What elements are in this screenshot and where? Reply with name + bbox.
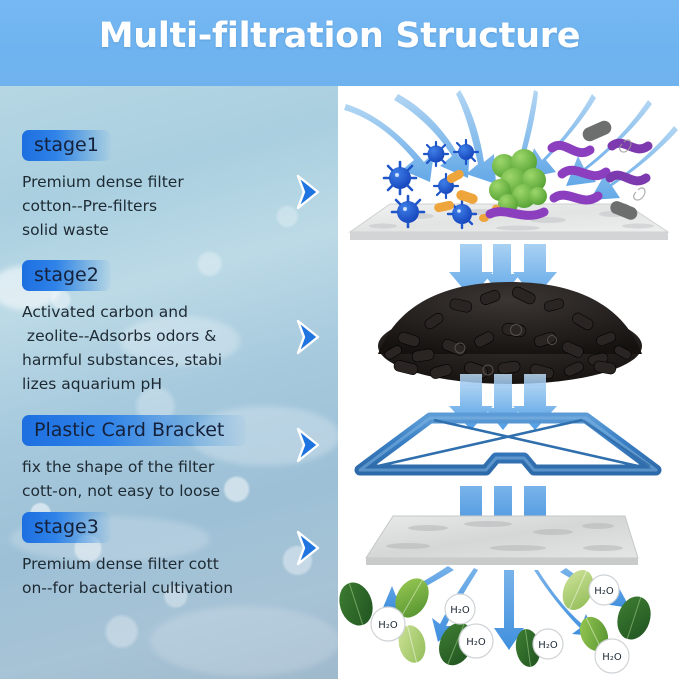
- bracket-frame-blue: [360, 418, 656, 470]
- stage-block-1: stage1 Premium dense filter cotton--Pre-…: [22, 130, 312, 242]
- text-line: lizes aquarium pH: [22, 372, 312, 396]
- infographic-page: Multi-filtration Structure stage1 Premiu…: [0, 0, 679, 679]
- h2o-bubble: H₂O: [445, 594, 475, 624]
- stage-block-3: Plastic Card Bracket fix the shape of th…: [22, 415, 312, 503]
- stage3-badge: stage3: [22, 512, 111, 543]
- h2o-bubble: H₂O: [533, 629, 563, 659]
- stage2-description: Activated carbon and zeolite--Adsorbs od…: [22, 300, 312, 396]
- header-banner: Multi-filtration Structure: [0, 0, 679, 86]
- text-line: harmful substances, stabi: [22, 348, 312, 372]
- text-line: Premium dense filter: [22, 170, 312, 194]
- activated-carbon-illustration: [338, 238, 679, 398]
- stage1-badge: stage1: [22, 130, 111, 161]
- h2o-bubble: H₂O: [595, 639, 629, 673]
- stage1-description: Premium dense filter cotton--Pre-filters…: [22, 170, 312, 242]
- chevron-right-icon: [292, 172, 326, 212]
- carbon-pellet-pile: [378, 282, 642, 388]
- svg-text:H₂O: H₂O: [450, 605, 470, 616]
- svg-text:H₂O: H₂O: [594, 586, 614, 597]
- page-title: Multi-filtration Structure: [0, 16, 679, 56]
- text-line: cotton--Pre-filters: [22, 194, 312, 218]
- text-line: on--for bacterial cultivation: [22, 576, 312, 600]
- h2o-bubble: H₂O: [459, 624, 493, 658]
- svg-text:H₂O: H₂O: [538, 640, 558, 651]
- plastic-card-bracket-description: fix the shape of the filter cott-on, not…: [22, 455, 312, 503]
- stage3-description: Premium dense filter cott on--for bacter…: [22, 552, 312, 600]
- chevron-right-icon: [292, 528, 326, 568]
- filter-cotton-bottom-illustration: H₂O H₂O H₂O H₂O H₂O H₂O: [338, 486, 679, 679]
- text-line: cott-on, not easy to loose: [22, 479, 312, 503]
- stage-block-2: stage2 Activated carbon and zeolite--Ads…: [22, 260, 312, 396]
- text-line: solid waste: [22, 218, 312, 242]
- text-line: Premium dense filter cott: [22, 552, 312, 576]
- svg-text:H₂O: H₂O: [378, 620, 398, 631]
- h2o-bubble: H₂O: [371, 607, 405, 641]
- filter-pad-gray: [366, 516, 638, 565]
- chevron-right-icon: [292, 425, 326, 465]
- filter-cotton-top-illustration: [338, 86, 679, 251]
- foam-blob: [150, 606, 338, 676]
- stage2-badge: stage2: [22, 260, 111, 291]
- plastic-card-bracket-badge: Plastic Card Bracket: [22, 415, 246, 446]
- chevron-right-icon: [292, 317, 326, 357]
- right-illustration-panel: H₂O H₂O H₂O H₂O H₂O H₂O: [338, 86, 679, 679]
- text-line: zeolite--Adsorbs odors &: [22, 324, 312, 348]
- text-line: Activated carbon and: [22, 300, 312, 324]
- stage-block-4: stage3 Premium dense filter cott on--for…: [22, 512, 312, 600]
- h2o-bubble: H₂O: [589, 575, 619, 605]
- svg-text:H₂O: H₂O: [602, 652, 622, 663]
- svg-text:H₂O: H₂O: [466, 637, 486, 648]
- text-line: fix the shape of the filter: [22, 455, 312, 479]
